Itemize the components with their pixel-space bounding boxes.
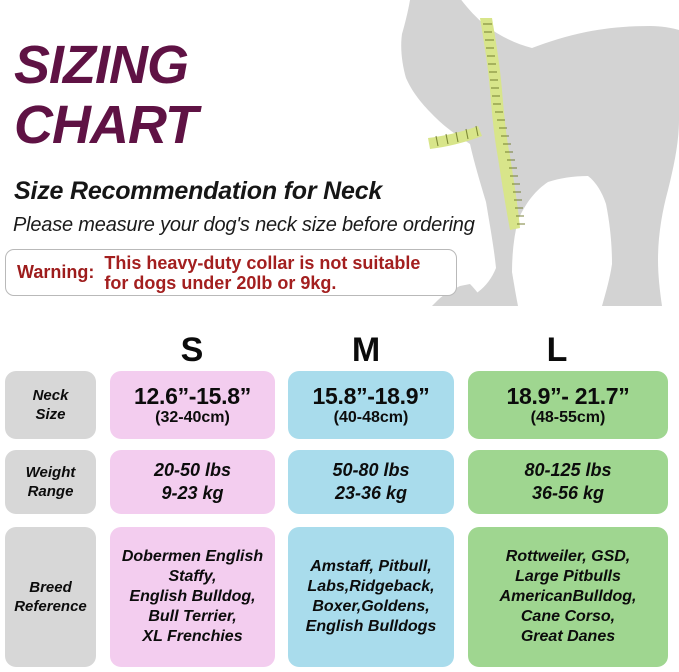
row-label-neck-size: Neck Size: [5, 371, 96, 439]
cell-weight-range-m-lbs: 50-80 lbs: [332, 459, 409, 482]
cell-breed-reference-s: Dobermen English Staffy, English Bulldog…: [110, 527, 275, 667]
title-line-sizing: SIZING: [14, 38, 484, 92]
size-header-m: M: [336, 333, 396, 367]
breed-line: Large Pitbulls: [515, 567, 621, 587]
breed-line: XL Frenchies: [142, 627, 242, 647]
cell-neck-size-m-cm: (40-48cm): [334, 409, 409, 427]
breed-line: Dobermen English: [122, 547, 263, 567]
row-label-breed-reference-line-2: Reference: [14, 597, 87, 616]
cell-breed-reference-m: Amstaff, Pitbull, Labs,Ridgeback, Boxer,…: [288, 527, 454, 667]
warning-message-line-2: for dogs under 20lb or 9kg.: [104, 273, 448, 293]
warning-label: Warning:: [17, 262, 94, 283]
cell-weight-range-m: 50-80 lbs 23-36 kg: [288, 450, 454, 514]
cell-neck-size-m-inches: 15.8”-18.9”: [313, 383, 430, 409]
breed-line: English Bulldogs: [306, 617, 437, 637]
cell-weight-range-s: 20-50 lbs 9-23 kg: [110, 450, 275, 514]
cell-neck-size-l: 18.9”- 21.7” (48-55cm): [468, 371, 668, 439]
cell-weight-range-l: 80-125 lbs 36-56 kg: [468, 450, 668, 514]
breed-line: Bull Terrier,: [148, 607, 236, 627]
cell-weight-range-l-kg: 36-56 kg: [532, 482, 604, 505]
warning-message: This heavy-duty collar is not suitable f…: [104, 253, 448, 293]
sizing-chart-page: SIZING CHART Size Recommendation for Nec…: [0, 0, 679, 672]
warning-box: Warning: This heavy-duty collar is not s…: [5, 249, 457, 296]
breed-line: Cane Corso,: [521, 607, 615, 627]
breed-line: Amstaff, Pitbull,: [310, 557, 432, 577]
row-label-breed-reference: Breed Reference: [5, 527, 96, 667]
subtitle: Size Recommendation for Neck: [14, 178, 382, 205]
breed-line: Labs,Ridgeback,: [307, 577, 434, 597]
instruction-text: Please measure your dog's neck size befo…: [13, 214, 475, 236]
cell-neck-size-l-cm: (48-55cm): [531, 409, 606, 427]
row-label-weight-range-line-2: Range: [28, 482, 74, 501]
breed-line: Staffy,: [168, 567, 216, 587]
breed-line: Boxer,Goldens,: [312, 597, 429, 617]
breed-line: Great Danes: [521, 627, 615, 647]
breed-line: English Bulldog,: [129, 587, 255, 607]
row-label-weight-range-line-1: Weight: [26, 463, 76, 482]
cell-breed-reference-l: Rottweiler, GSD, Large Pitbulls American…: [468, 527, 668, 667]
page-title: SIZING CHART: [14, 38, 484, 152]
cell-neck-size-s-cm: (32-40cm): [155, 409, 230, 427]
breed-line: AmericanBulldog,: [500, 587, 637, 607]
title-line-chart: CHART: [14, 98, 484, 152]
cell-weight-range-s-lbs: 20-50 lbs: [154, 459, 231, 482]
size-header-l: L: [527, 333, 587, 367]
row-label-weight-range: Weight Range: [5, 450, 96, 514]
row-label-neck-size-line-2: Size: [35, 405, 65, 424]
breed-line: Rottweiler, GSD,: [506, 547, 630, 567]
cell-neck-size-s-inches: 12.6”-15.8”: [134, 383, 251, 409]
cell-weight-range-l-lbs: 80-125 lbs: [524, 459, 611, 482]
warning-message-line-1: This heavy-duty collar is not suitable: [104, 253, 448, 273]
cell-weight-range-s-kg: 9-23 kg: [161, 482, 223, 505]
row-label-neck-size-line-1: Neck: [33, 386, 69, 405]
cell-weight-range-m-kg: 23-36 kg: [335, 482, 407, 505]
cell-neck-size-s: 12.6”-15.8” (32-40cm): [110, 371, 275, 439]
cell-neck-size-m: 15.8”-18.9” (40-48cm): [288, 371, 454, 439]
cell-neck-size-l-inches: 18.9”- 21.7”: [507, 383, 630, 409]
row-label-breed-reference-line-1: Breed: [29, 578, 72, 597]
size-header-s: S: [162, 333, 222, 367]
